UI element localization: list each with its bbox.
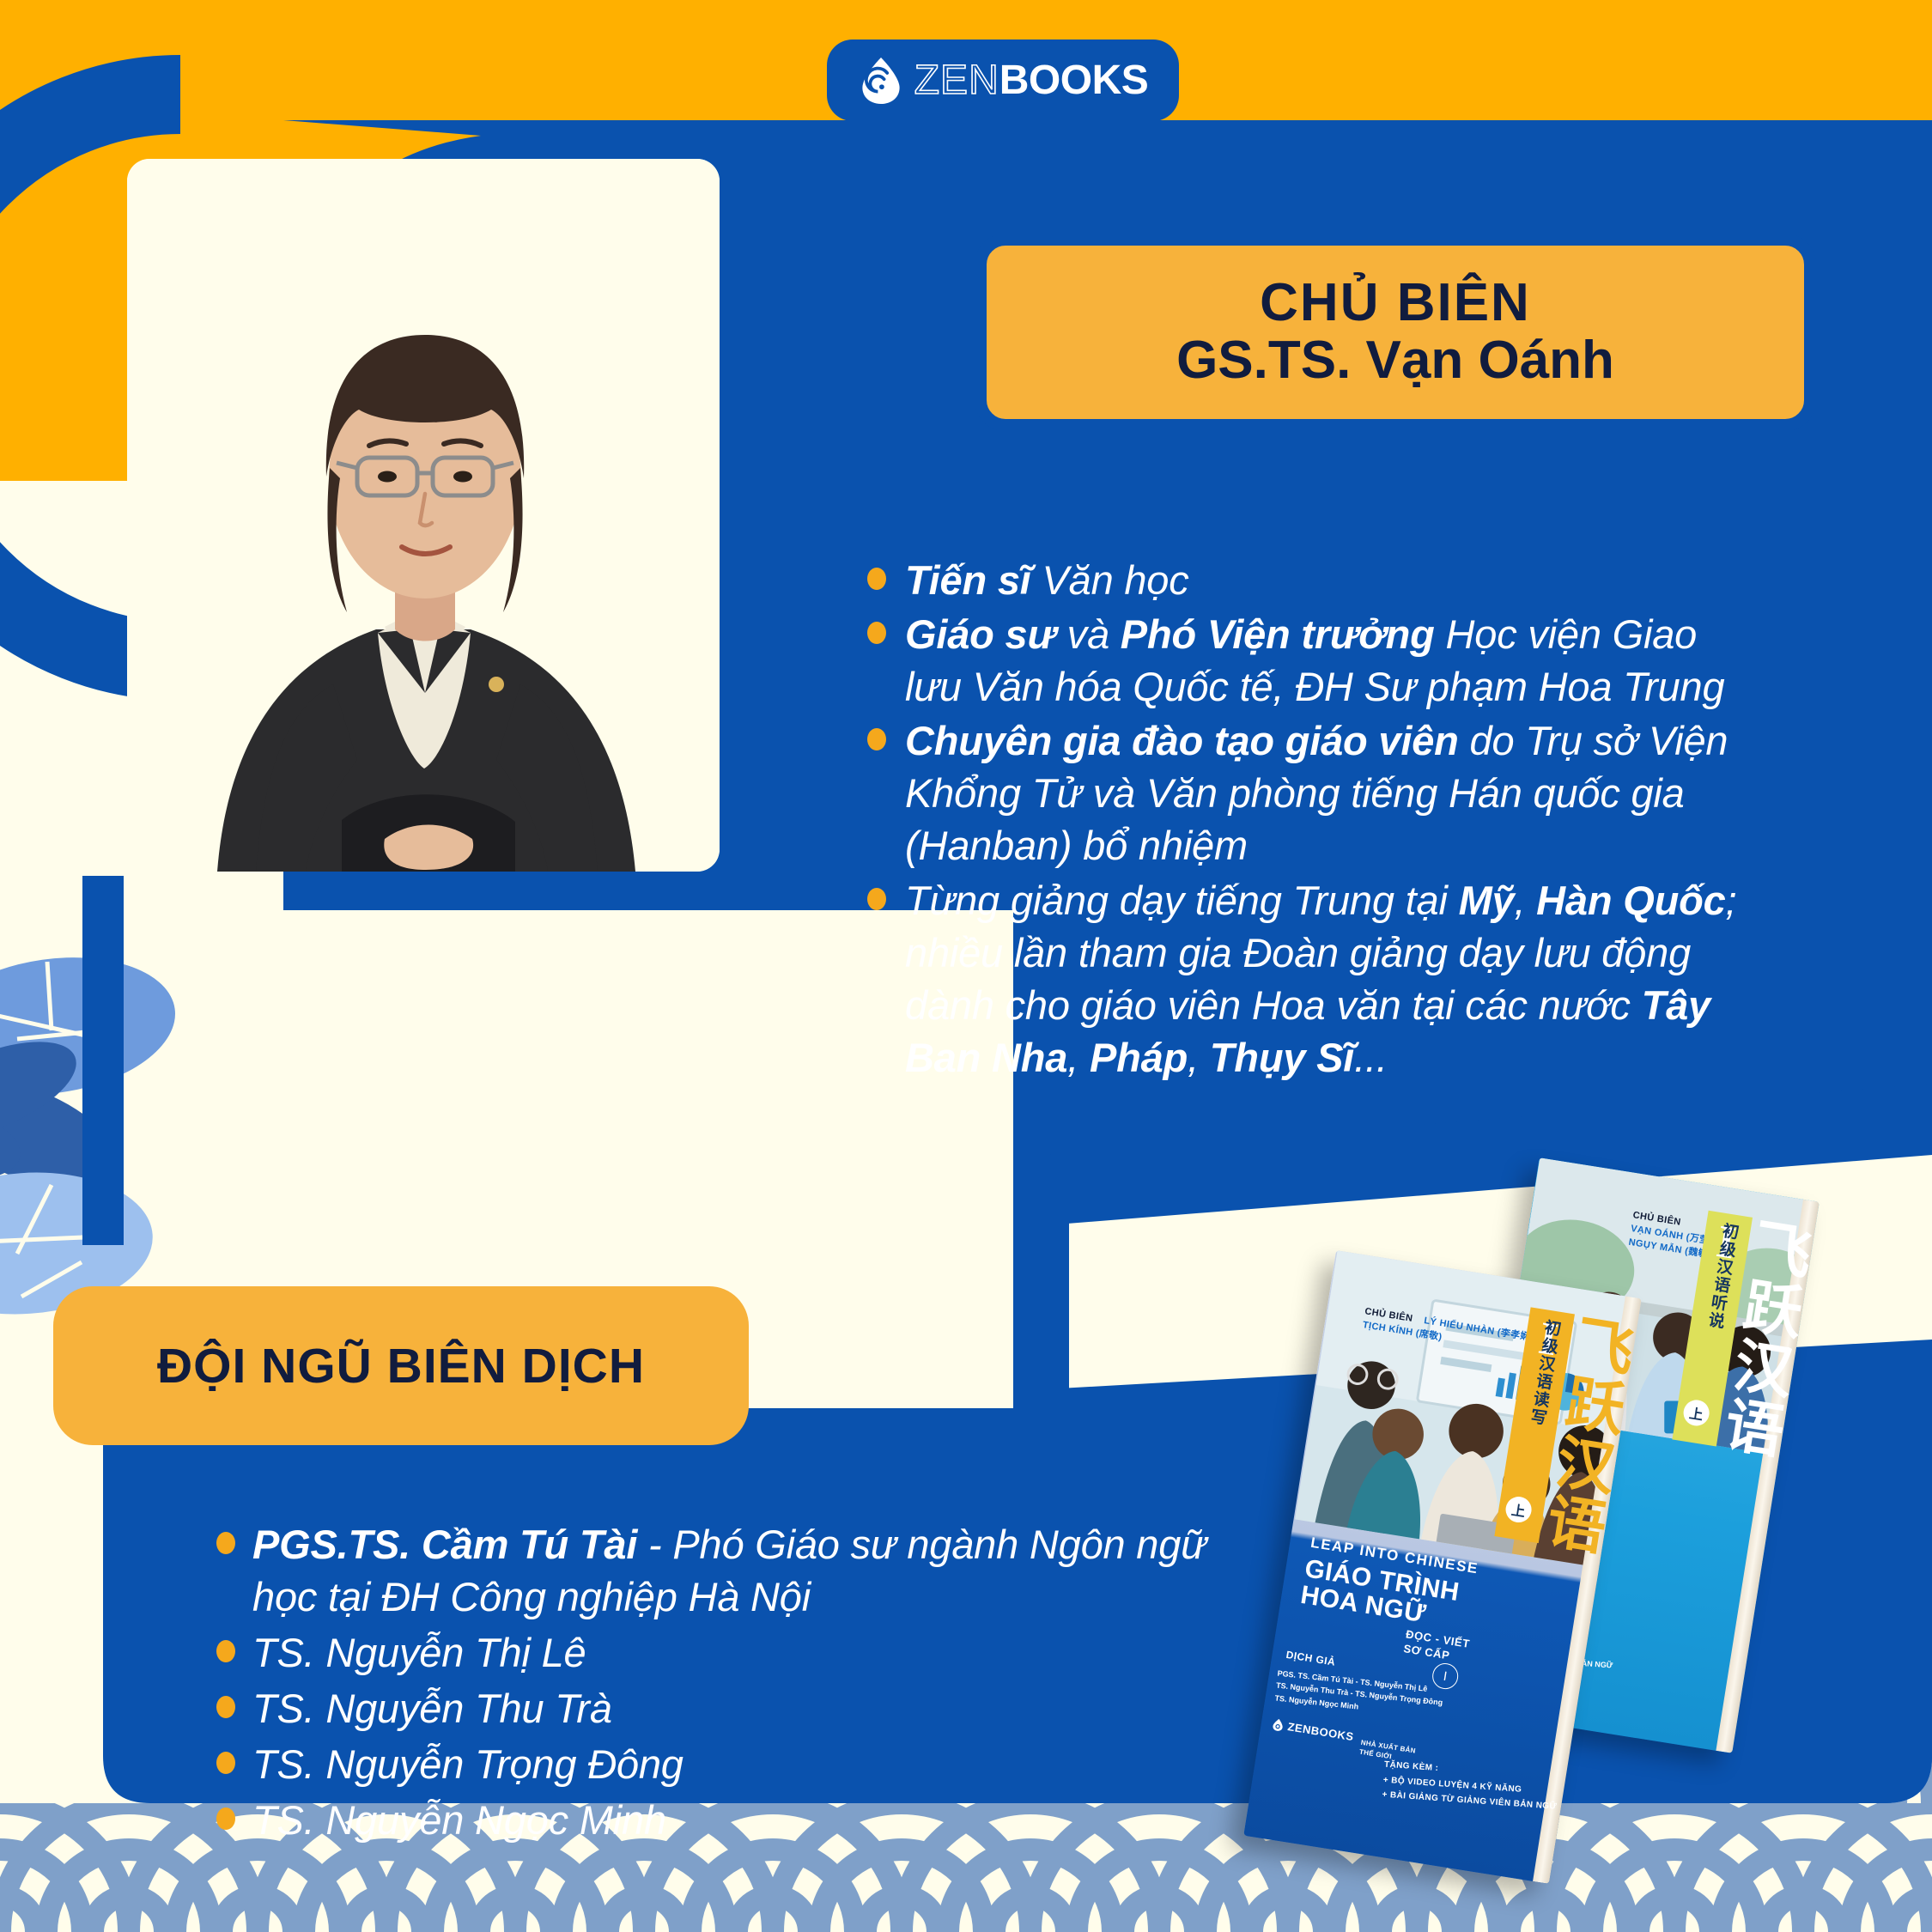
bullet-dot-icon [867, 728, 886, 750]
credential-text: Từng giảng dạy tiếng Trung tại Mỹ, Hàn Q… [905, 874, 1752, 1084]
editor-credentials-list: Tiến sĩ Văn họcGiáo sư và Phó Viện trưởn… [867, 554, 1752, 1085]
team-member-item: TS. Nguyễn Thị Lê [216, 1626, 1247, 1679]
book-mockup-group: CHỦ BIÊN VẠN OÁNH (万莹) NGỤY MẪN (魏敏) NGH… [1236, 1176, 1932, 1872]
bullet-dot-icon [867, 622, 886, 644]
book-front-translator-label: DỊCH GIẢ [1285, 1649, 1336, 1668]
credential-item: Giáo sư và Phó Viện trưởng Học viện Giao… [867, 608, 1752, 713]
credential-item: Chuyên gia đào tạo giáo viên do Trụ sở V… [867, 714, 1752, 872]
book-front-publisher-logo: ZENBOOKS [1271, 1718, 1355, 1744]
team-member-text: TS. Nguyễn Ngọc Minh [252, 1794, 666, 1846]
bullet-dot-icon [216, 1807, 235, 1830]
book-cover-reading: CHỦ BIÊN LÝ HIẾU NHÀN (李孝娴) TỊCH KÍNH (席… [1243, 1250, 1642, 1884]
logo-books-text: BOOKS [999, 57, 1149, 104]
brand-logo: ZEN BOOKS [827, 39, 1179, 121]
credential-item: Từng giảng dạy tiếng Trung tại Mỹ, Hàn Q… [867, 874, 1752, 1084]
translation-team-list: PGS.TS. Cầm Tú Tài - Phó Giáo sư ngành N… [216, 1518, 1247, 1850]
bullet-dot-icon [867, 888, 886, 910]
book-front-body: LEAP INTO CHINESE GIÁO TRÌNH HOA NGỮ ĐỌC… [1243, 1520, 1599, 1884]
team-member-text: TS. Nguyễn Trọng Đông [252, 1738, 683, 1790]
book-front-subtitle: ĐỌC - VIẾT SƠ CẤP [1402, 1628, 1471, 1666]
spiral-droplet-icon-small [1271, 1718, 1285, 1733]
credential-text: Tiến sĩ Văn học [905, 554, 1189, 606]
credential-text: Giáo sư và Phó Viện trưởng Học viện Giao… [905, 608, 1752, 713]
bullet-dot-icon [216, 1532, 235, 1554]
page-title-line1: CHỦ BIÊN [1260, 275, 1531, 332]
team-member-item: TS. Nguyễn Trọng Đông [216, 1738, 1247, 1790]
bullet-dot-icon [867, 568, 886, 590]
editor-portrait-panel [127, 159, 720, 872]
logo-zen-text: ZEN [914, 57, 999, 104]
book-front-publisher-name: ZENBOOKS [1287, 1721, 1355, 1744]
team-member-text: TS. Nguyễn Thu Trà [252, 1682, 612, 1735]
book-front-bonus: TẶNG KÈM : + BỘ VIDEO LUYỆN 4 KỸ NĂNG + … [1382, 1758, 1569, 1815]
team-member-text: PGS.TS. Cầm Tú Tài - Phó Giáo sư ngành N… [252, 1518, 1247, 1623]
team-member-text: TS. Nguyễn Thị Lê [252, 1626, 586, 1679]
poster-canvas: ZEN BOOKS [0, 0, 1932, 1932]
bullet-dot-icon [216, 1640, 235, 1662]
team-member-item: TS. Nguyễn Ngọc Minh [216, 1794, 1247, 1846]
translation-team-heading: ĐỘI NGŨ BIÊN DỊCH [53, 1286, 749, 1445]
page-title-line2: GS.TS. Vạn Oánh [1176, 332, 1614, 390]
editor-title-card: CHỦ BIÊN GS.TS. Vạn Oánh [975, 234, 1816, 431]
spiral-droplet-icon [858, 56, 904, 106]
team-member-item: PGS.TS. Cầm Tú Tài - Phó Giáo sư ngành N… [216, 1518, 1247, 1623]
bullet-dot-icon [216, 1696, 235, 1718]
bullet-dot-icon [216, 1752, 235, 1774]
book-front-translators: PGS. TS. Cầm Tú Tài - TS. Nguyễn Thị Lê … [1274, 1668, 1444, 1722]
credential-text: Chuyên gia đào tạo giáo viên do Trụ sở V… [905, 714, 1752, 872]
translation-team-label: ĐỘI NGŨ BIÊN DỊCH [157, 1338, 645, 1394]
credential-item: Tiến sĩ Văn học [867, 554, 1752, 606]
team-member-item: TS. Nguyễn Thu Trà [216, 1682, 1247, 1735]
avatar [127, 159, 720, 872]
